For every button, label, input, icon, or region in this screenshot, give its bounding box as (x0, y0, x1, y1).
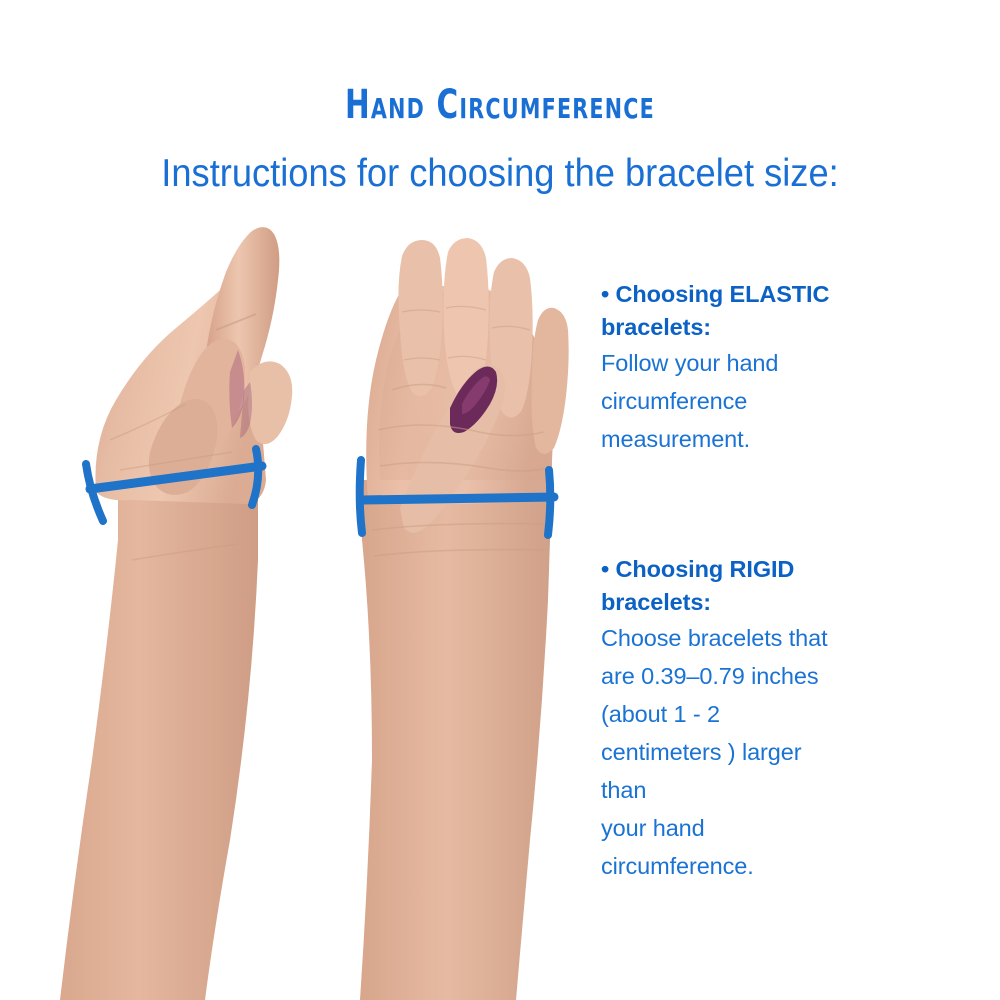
elastic-body-line2: circumference (601, 382, 921, 420)
instructions-column: • Choosing ELASTIC bracelets: Follow you… (601, 278, 921, 885)
left-forearm (60, 470, 258, 1000)
elastic-heading-line1: • Choosing ELASTIC (601, 278, 921, 311)
page-subtitle: Instructions for choosing the bracelet s… (35, 152, 965, 196)
rigid-body-line7: circumference. (601, 847, 921, 885)
right-hand-group (360, 238, 569, 1000)
rigid-body-line1: Choose bracelets that (601, 619, 921, 657)
instruction-block-rigid: • Choosing RIGID bracelets: Choose brace… (601, 553, 921, 885)
elastic-body-line3: measurement. (601, 420, 921, 458)
left-hand-group (60, 227, 292, 1000)
elastic-body-line1: Follow your hand (601, 344, 921, 382)
rigid-body-line6: your hand (601, 809, 921, 847)
instruction-block-elastic: • Choosing ELASTIC bracelets: Follow you… (601, 278, 921, 458)
right-measure-cap-end (548, 470, 550, 535)
right-little-finger (532, 308, 569, 454)
page-title: Hand Circumference (90, 82, 910, 128)
right-forearm (360, 480, 552, 1000)
rigid-body-line4: centimeters ) larger (601, 733, 921, 771)
rigid-heading-line2: bracelets: (601, 586, 921, 619)
rigid-body-line3: (about 1 - 2 (601, 695, 921, 733)
rigid-heading-line1: • Choosing RIGID (601, 553, 921, 586)
left-thumb (248, 361, 292, 444)
right-measure-cap-start (360, 460, 362, 533)
rigid-body-line2: are 0.39–0.79 inches (601, 657, 921, 695)
right-measure-line (362, 497, 554, 500)
illustration-page: Hand Circumference Instructions for choo… (0, 0, 1000, 1000)
rigid-body-line5: than (601, 771, 921, 809)
elastic-heading-line2: bracelets: (601, 311, 921, 344)
